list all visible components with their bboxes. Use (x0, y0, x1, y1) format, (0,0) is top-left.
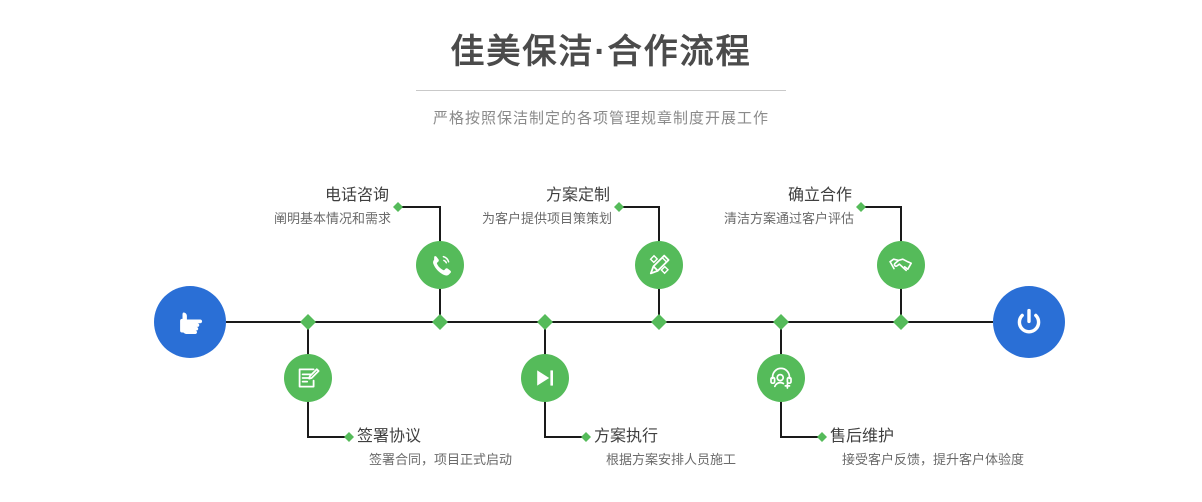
document-edit-icon (293, 363, 323, 393)
step-subtitle: 根据方案安排人员施工 (594, 450, 736, 469)
step-node-establish-cooperation[interactable] (877, 241, 925, 289)
end-endpoint[interactable] (993, 286, 1065, 358)
label-diamond-bottom-2 (581, 432, 591, 442)
step-title: 方案定制 (356, 186, 612, 206)
flowchart-page: 佳美保洁·合作流程 严格按照保洁制定的各项管理规章制度开展工作 (0, 0, 1202, 502)
step-subtitle: 清洁方案通过客户评估 (598, 209, 854, 228)
pencil-ruler-icon (644, 250, 674, 280)
step-caption-after-sales: 售后维护 接受客户反馈，提升客户体验度 (830, 427, 1024, 469)
phone-ring-icon (425, 250, 455, 280)
headset-support-icon (766, 363, 796, 393)
step-subtitle: 为客户提供项目策策划 (356, 209, 612, 228)
step-title: 确立合作 (598, 186, 854, 206)
play-next-icon (530, 363, 560, 393)
pointing-hand-icon (170, 302, 210, 342)
process-flow-diagram: 电话咨询 阐明基本情况和需求 方案定制 为客户提供项目策策划 确立合作 清洁方案… (0, 0, 1202, 502)
step-subtitle: 阐明基本情况和需求 (135, 209, 391, 228)
spine-diamond-1 (300, 314, 316, 330)
spine-diamond-3 (537, 314, 553, 330)
power-icon (1009, 302, 1049, 342)
spine-diamond-6 (893, 314, 909, 330)
step-caption-phone-consult: 电话咨询 阐明基本情况和需求 (135, 186, 391, 228)
step-node-after-sales[interactable] (757, 354, 805, 402)
handshake-icon (886, 250, 916, 280)
step-node-plan-execution[interactable] (521, 354, 569, 402)
step-node-sign-agreement[interactable] (284, 354, 332, 402)
step-caption-sign-agreement: 签署协议 签署合同，项目正式启动 (357, 427, 512, 469)
step-caption-plan-execution: 方案执行 根据方案安排人员施工 (594, 427, 736, 469)
step-node-phone-consult[interactable] (416, 241, 464, 289)
label-diamond-top-3 (856, 202, 866, 212)
spine-diamond-4 (651, 314, 667, 330)
step-caption-establish-cooperation: 确立合作 清洁方案通过客户评估 (598, 186, 854, 228)
spine-diamond-2 (432, 314, 448, 330)
label-diamond-bottom-3 (817, 432, 827, 442)
step-title: 电话咨询 (135, 186, 391, 206)
step-title: 方案执行 (594, 427, 736, 447)
step-title: 售后维护 (830, 427, 1024, 447)
start-endpoint[interactable] (154, 286, 226, 358)
step-caption-plan-design: 方案定制 为客户提供项目策策划 (356, 186, 612, 228)
spine-diamond-5 (773, 314, 789, 330)
label-diamond-bottom-1 (344, 432, 354, 442)
step-title: 签署协议 (357, 427, 512, 447)
step-node-plan-design[interactable] (635, 241, 683, 289)
step-subtitle: 签署合同，项目正式启动 (357, 450, 512, 469)
step-subtitle: 接受客户反馈，提升客户体验度 (830, 450, 1024, 469)
